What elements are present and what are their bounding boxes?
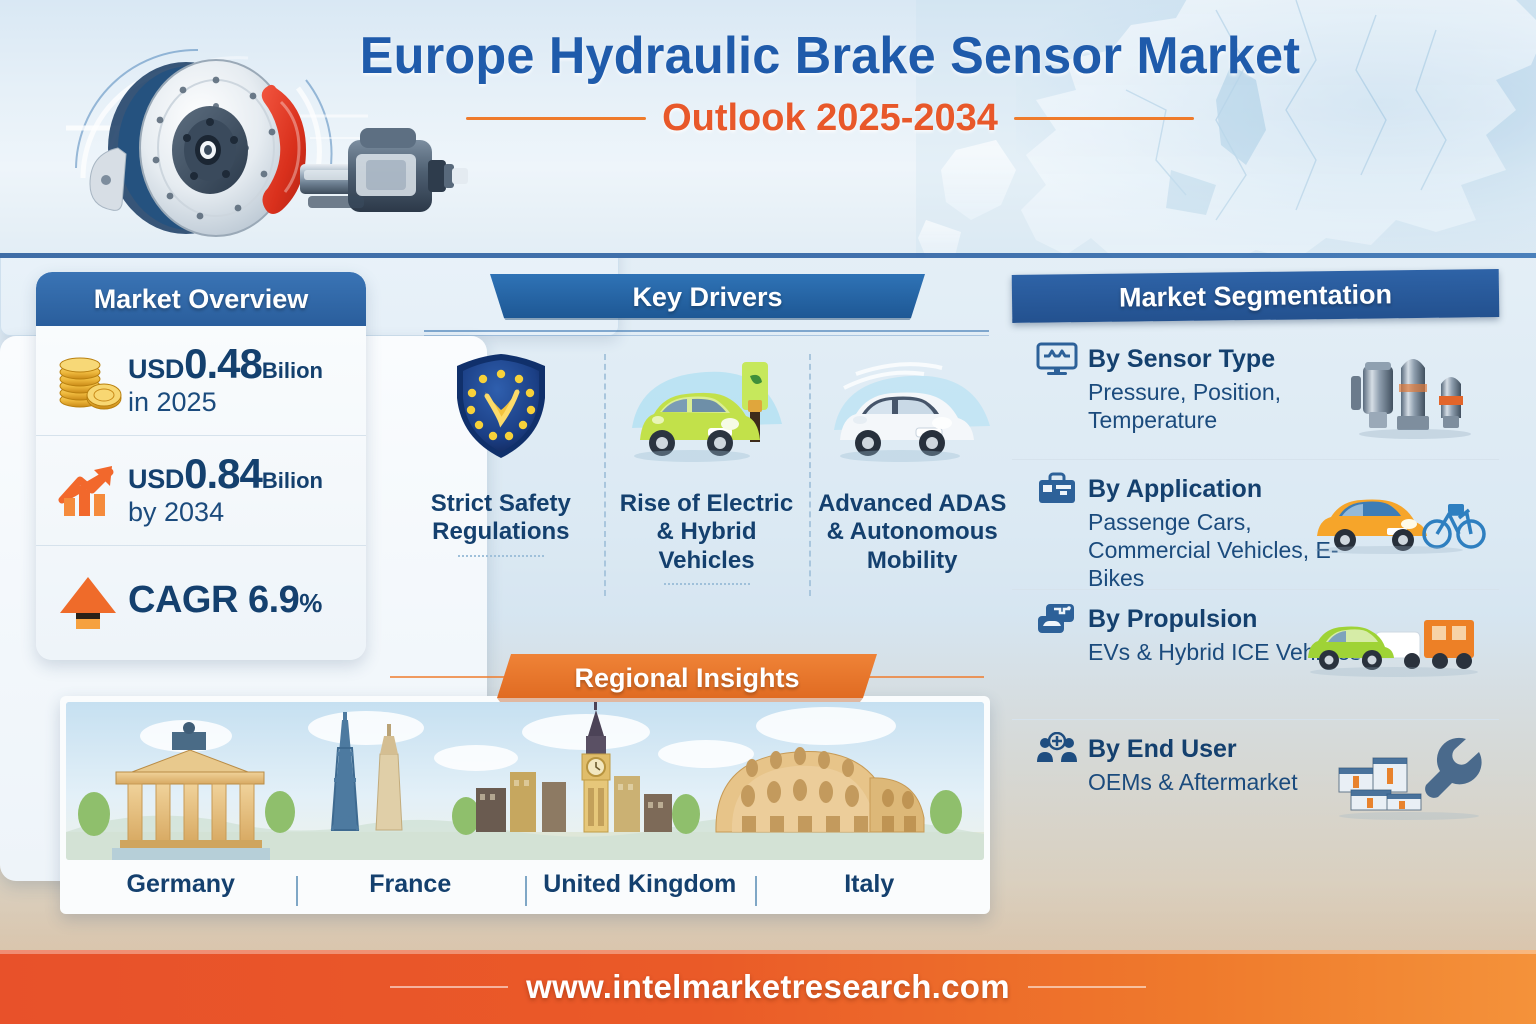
infographic-canvas: Europe Hydraulic Brake Sensor Market Out… xyxy=(0,0,1536,1024)
segmentation-desc-sensor-type: Pressure, Position, Temperature xyxy=(1088,378,1378,434)
segmentation-row-propulsion: By Propulsion EVs & Hybrid ICE Vehicles xyxy=(1012,590,1499,720)
key-driver-item-adas: Advanced ADAS & Autonomous Mobility xyxy=(809,344,1015,614)
european-landmarks-skyline xyxy=(66,702,984,860)
vehicle-tags-icon xyxy=(1036,602,1078,636)
footer-rule-left xyxy=(390,986,508,988)
white-car-adas-icon xyxy=(820,344,1005,472)
key-drivers-rule xyxy=(424,330,989,332)
key-driver-caption-safety: Strict Safety Regulations xyxy=(404,490,598,547)
page-title: Europe Hydraulic Brake Sensor Market xyxy=(345,28,1315,85)
coins-stack-icon xyxy=(50,350,128,412)
segmentation-row-end-user: By End User OEMs & Aftermarket xyxy=(1012,720,1499,850)
sensor-canisters-image xyxy=(1349,344,1489,449)
overview-unit-2034: Bilion xyxy=(262,468,323,493)
segmentation-title-propulsion: By Propulsion xyxy=(1088,605,1257,634)
key-driver-caption-adas: Advanced ADAS & Autonomous Mobility xyxy=(815,490,1009,575)
electric-car-charging-icon xyxy=(614,344,799,472)
key-driver-item-safety: Strict Safety Regulations xyxy=(398,344,604,614)
market-overview-panel: Market Overview xyxy=(36,272,366,660)
segmentation-row-application: By Application Passenge Cars, Commercial… xyxy=(1012,460,1499,590)
add-users-icon xyxy=(1036,732,1078,766)
cagr-value: 6.9 xyxy=(248,579,299,621)
regional-insights-title: Regional Insights xyxy=(497,654,877,702)
regional-rule-left xyxy=(390,676,508,678)
overview-currency-2025: USD xyxy=(128,354,184,384)
market-overview-title: Market Overview xyxy=(94,284,309,315)
overview-currency-2034: USD xyxy=(128,464,184,494)
up-arrow-icon xyxy=(50,569,128,631)
eu-shield-icon xyxy=(441,344,561,472)
key-drivers-ribbon: Key Drivers xyxy=(490,274,925,320)
segmentation-row-sensor-type: By Sensor Type Pressure, Position, Tempe… xyxy=(1012,330,1499,460)
key-drivers-rule-thin xyxy=(424,335,989,336)
footer-rule-right xyxy=(1028,986,1146,988)
market-overview-body: USD0.48Bilion in 2025 xyxy=(36,326,366,654)
key-driver-item-ev: Rise of Electric & Hybrid Vehicles xyxy=(604,344,810,614)
key-driver-caption-ev: Rise of Electric & Hybrid Vehicles xyxy=(610,490,804,575)
regional-country-labels: Germany France United Kingdom Italy xyxy=(66,860,984,908)
segmentation-title-application: By Application xyxy=(1088,475,1262,504)
regional-label-france: France xyxy=(296,870,526,899)
header-band: Europe Hydraulic Brake Sensor Market Out… xyxy=(0,0,1536,258)
regional-label-italy: Italy xyxy=(755,870,985,899)
footer-inner: www.intelmarketresearch.com xyxy=(0,950,1536,1024)
segmentation-title-end-user: By End User xyxy=(1088,735,1237,764)
overview-row-2034: USD0.84Bilion by 2034 xyxy=(36,436,366,546)
regional-rule-right xyxy=(866,676,984,678)
key-drivers-columns: Strict Safety Regulations xyxy=(398,344,1015,614)
segmentation-title-sensor-type: By Sensor Type xyxy=(1088,345,1275,374)
footer-bar: www.intelmarketresearch.com xyxy=(0,950,1536,1024)
overview-year-2034: by 2034 xyxy=(128,497,356,528)
overview-value-line: USD0.48Bilion xyxy=(128,343,356,386)
orange-car-and-ebike-image xyxy=(1309,474,1489,561)
key-driver-dash-1 xyxy=(458,555,544,557)
overview-unit-2025: Bilion xyxy=(262,358,323,383)
overview-row-cagr-text: CAGR 6.9% xyxy=(128,579,356,622)
subtitle-row: Outlook 2025-2034 xyxy=(330,97,1330,140)
cagr-label: CAGR xyxy=(128,579,238,621)
monitor-waveform-icon xyxy=(1036,342,1078,376)
header-bottom-line xyxy=(0,253,1536,258)
overview-value-2034: 0.84 xyxy=(184,450,262,497)
cagr-line: CAGR 6.9% xyxy=(128,579,356,622)
segmentation-list: By Sensor Type Pressure, Position, Tempe… xyxy=(1012,330,1499,850)
subtitle-rule-left xyxy=(466,117,646,120)
overview-value-line-2034: USD0.84Bilion xyxy=(128,453,356,496)
title-block: Europe Hydraulic Brake Sensor Market Out… xyxy=(330,28,1330,140)
cagr-percent-sign: % xyxy=(299,588,322,618)
key-driver-dash-2 xyxy=(664,583,750,585)
page-subtitle: Outlook 2025-2034 xyxy=(662,97,998,140)
regional-insights-panel: Germany France United Kingdom Italy xyxy=(60,696,990,914)
overview-year-2025: in 2025 xyxy=(128,387,356,418)
crates-and-wrench-image xyxy=(1329,734,1489,827)
overview-row-2025: USD0.48Bilion in 2025 xyxy=(36,326,366,436)
growth-chart-icon xyxy=(50,460,128,522)
overview-value-2025: 0.48 xyxy=(184,340,262,387)
market-segmentation-title: Market Segmentation xyxy=(1012,269,1500,323)
overview-row-2034-text: USD0.84Bilion by 2034 xyxy=(128,453,356,529)
toolbox-icon xyxy=(1036,472,1078,506)
regional-insights-ribbon: Regional Insights xyxy=(497,654,877,702)
subtitle-rule-right xyxy=(1014,117,1194,120)
key-drivers-title: Key Drivers xyxy=(490,274,925,320)
regional-label-germany: Germany xyxy=(66,870,296,899)
footer-website-url[interactable]: www.intelmarketresearch.com xyxy=(526,968,1010,1006)
market-overview-header: Market Overview xyxy=(36,272,366,326)
car-van-truck-image xyxy=(1304,604,1489,687)
regional-label-united-kingdom: United Kingdom xyxy=(525,870,755,899)
market-segmentation-banner: Market Segmentation xyxy=(1012,269,1500,323)
overview-row-2025-text: USD0.48Bilion in 2025 xyxy=(128,343,356,419)
overview-row-cagr: CAGR 6.9% xyxy=(36,546,366,654)
